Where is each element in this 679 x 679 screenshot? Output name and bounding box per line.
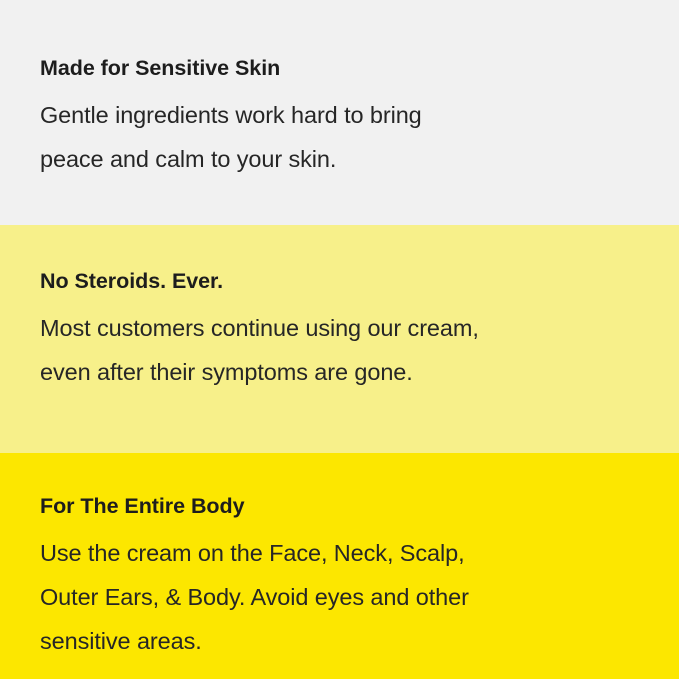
panel-heading-entire-body: For The Entire Body [40, 491, 653, 521]
benefit-panel-no-steroids: No Steroids. Ever. Most customers contin… [0, 225, 679, 453]
panel-body-no-steroids: Most customers continue using our cream,… [40, 306, 653, 394]
benefit-panel-entire-body: For The Entire Body Use the cream on the… [0, 453, 679, 679]
panel-body-line: sensitive areas. [40, 619, 653, 663]
panel-body-line: Most customers continue using our cream, [40, 306, 653, 350]
panel-body-line: Gentle ingredients work hard to bring [40, 93, 653, 137]
benefit-panel-stack: Made for Sensitive Skin Gentle ingredien… [0, 0, 679, 679]
panel-body-line: Use the cream on the Face, Neck, Scalp, [40, 531, 653, 575]
panel-body-line: even after their symptoms are gone. [40, 350, 653, 394]
panel-body-entire-body: Use the cream on the Face, Neck, Scalp, … [40, 531, 653, 663]
panel-body-sensitive-skin: Gentle ingredients work hard to bring pe… [40, 93, 653, 181]
panel-body-line: Outer Ears, & Body. Avoid eyes and other [40, 575, 653, 619]
benefit-panel-sensitive-skin: Made for Sensitive Skin Gentle ingredien… [0, 0, 679, 225]
panel-heading-no-steroids: No Steroids. Ever. [40, 266, 653, 296]
panel-body-line: peace and calm to your skin. [40, 137, 653, 181]
panel-heading-sensitive-skin: Made for Sensitive Skin [40, 53, 653, 83]
